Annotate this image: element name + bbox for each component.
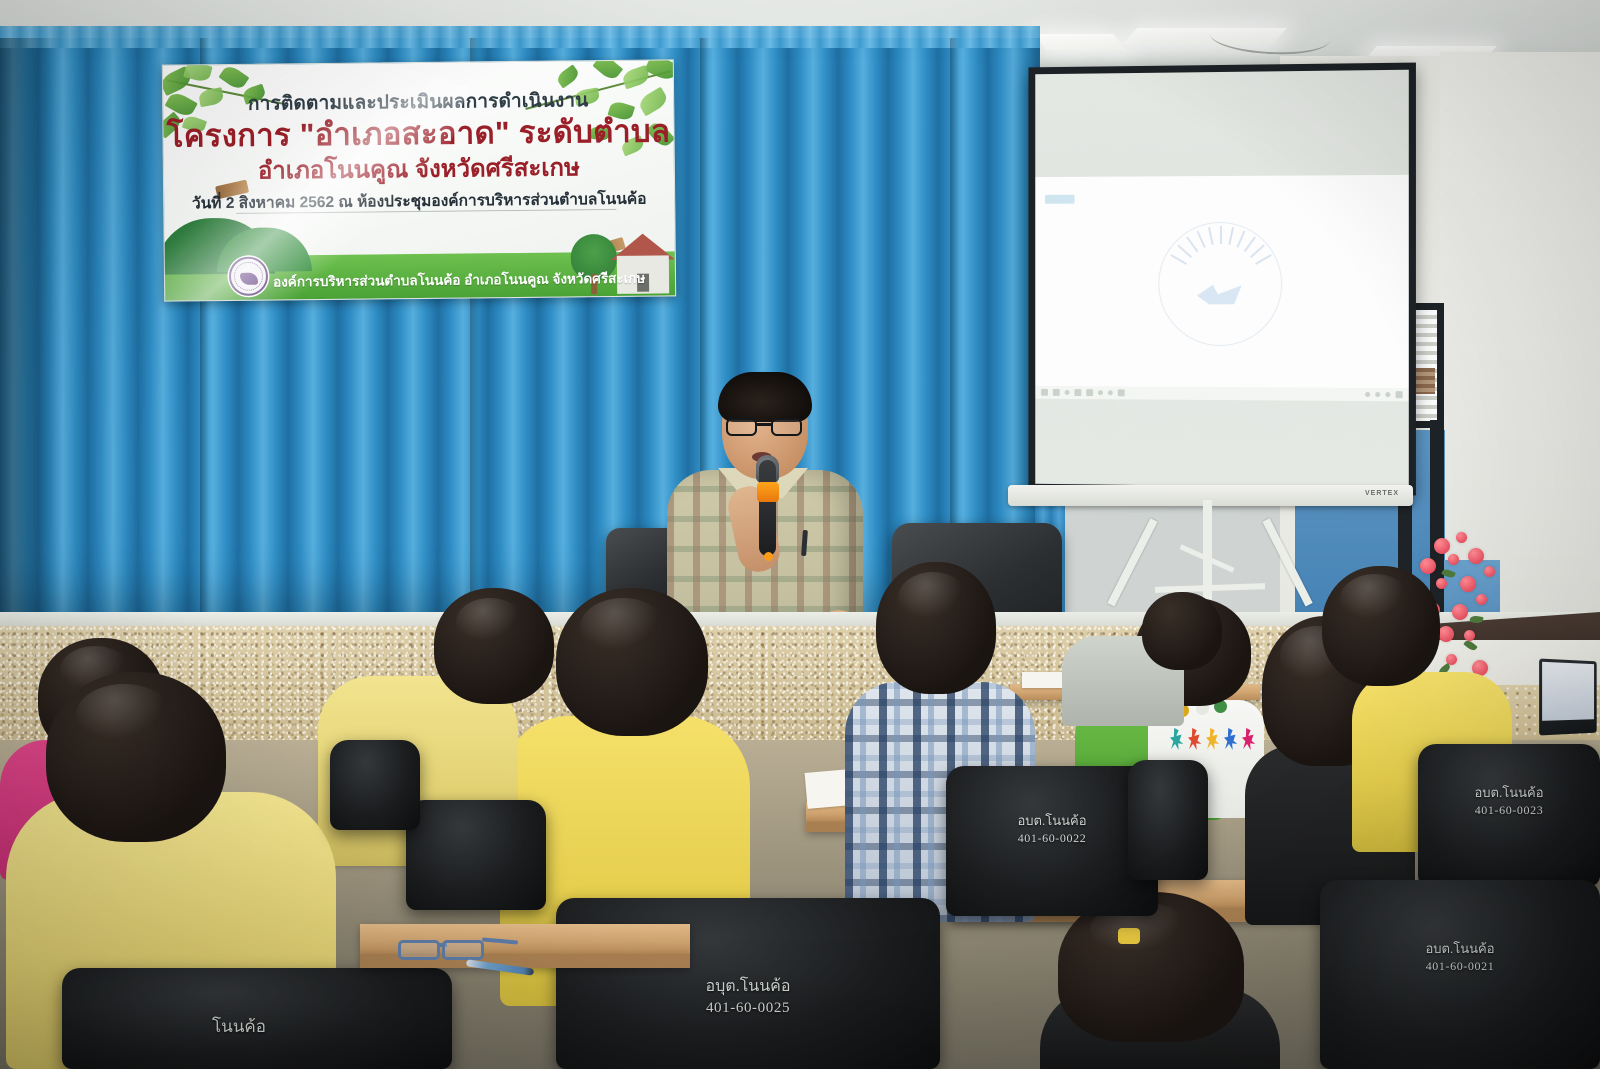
audience-chair[interactable]: อบต.โนนค้อ 401-60-0023: [1418, 744, 1600, 886]
chair-label-code: 401-60-0025: [556, 998, 940, 1018]
eyeglasses-icon: [726, 418, 804, 438]
tray-icon[interactable]: [1365, 392, 1370, 397]
microphone-body: [759, 460, 776, 556]
audience-chair[interactable]: [330, 740, 420, 830]
slide-ui-chip: [1045, 195, 1074, 204]
clock[interactable]: [1396, 391, 1403, 398]
banner-footer: องค์การบริหารส่วนตำบลโนนค้อ อำเภอโนนคูณ …: [273, 266, 673, 292]
curtain-rod: [0, 26, 1040, 48]
laptop[interactable]: [1539, 659, 1597, 736]
screen-brand-label: VERTEX: [1365, 490, 1399, 497]
chair-label: อบต.โนนค้อ 401-60-0023: [1418, 784, 1600, 818]
chair-label-name: อบต.โนนค้อ: [1017, 813, 1086, 828]
taskbar-icon[interactable]: [1098, 390, 1103, 395]
tripod-leg: [1107, 518, 1157, 606]
taskbar-icon[interactable]: [1074, 389, 1081, 396]
audience-chair[interactable]: โนนค้อ: [62, 968, 452, 1069]
government-seal-watermark-icon: [1158, 221, 1282, 345]
chair-label-name: อบต.โนนค้อ: [1474, 785, 1543, 800]
chair-label-name: อบต.โนนค้อ: [1425, 941, 1494, 956]
taskbar-icon[interactable]: [1086, 389, 1093, 396]
chair-label: อบุต.โนนค้อ 401-60-0025: [556, 976, 940, 1018]
lens-bridge: [756, 423, 772, 426]
chair-label-code: 401-60-0022: [946, 830, 1158, 846]
lens-left: [726, 418, 757, 436]
microphone-tip: [764, 552, 773, 561]
watermark-rays: [1162, 225, 1278, 341]
audience-chair[interactable]: อบต.โนนค้อ 401-60-0022: [946, 766, 1158, 916]
screen-upper-blank: [1035, 70, 1409, 177]
lens-right: [442, 940, 484, 960]
chair-label-name: โนนค้อ: [212, 1017, 266, 1036]
taskbar-icon[interactable]: [1041, 389, 1048, 396]
lens-left: [398, 940, 440, 960]
event-banner: การติดตามและประเมินผลการดำเนินงาน โครงกา…: [162, 59, 676, 301]
audience-chair[interactable]: [406, 800, 546, 910]
photo-scene: การติดตามและประเมินผลการดำเนินงาน โครงกา…: [0, 0, 1600, 1069]
projector-screen: [1028, 63, 1416, 496]
chair-label: อบต.โนนค้อ 401-60-0022: [946, 812, 1158, 846]
taskbar-icon[interactable]: [1065, 390, 1070, 395]
laptop-screen: [1542, 662, 1594, 721]
hair-clip-icon: [1118, 928, 1140, 944]
chair-label: โนนค้อ: [62, 1016, 452, 1039]
tray-icon[interactable]: [1385, 392, 1390, 397]
audience-chair[interactable]: [1128, 760, 1208, 880]
ceiling-light: [1033, 34, 1126, 50]
chair-label: อบต.โนนค้อ 401-60-0021: [1320, 940, 1600, 974]
seal-ring: [234, 262, 263, 291]
projected-slide: [1035, 175, 1409, 392]
eyeglasses-on-table[interactable]: [398, 936, 516, 962]
windows-taskbar: [1035, 386, 1409, 401]
taskbar-icon[interactable]: [1053, 389, 1060, 396]
glasses-temple: [482, 937, 518, 944]
audience-chair[interactable]: อบต.โนนค้อ 401-60-0021: [1320, 880, 1600, 1069]
projector-screen-surface: [1035, 70, 1409, 489]
microphone-accent-band: [757, 482, 779, 502]
runner-graphic: [1170, 728, 1256, 750]
speaker-hair: [718, 372, 812, 422]
curtain-shadow: [0, 38, 60, 628]
chair-label-name: อบุต.โนนค้อ: [706, 978, 791, 995]
chair-label-code: 401-60-0021: [1320, 958, 1600, 974]
taskbar-icon[interactable]: [1118, 389, 1125, 396]
chair-label-code: 401-60-0023: [1418, 802, 1600, 818]
taskbar-icon[interactable]: [1108, 390, 1113, 395]
lens-right: [771, 418, 802, 436]
organization-seal-icon: [229, 257, 268, 296]
tray-icon[interactable]: [1375, 392, 1380, 397]
